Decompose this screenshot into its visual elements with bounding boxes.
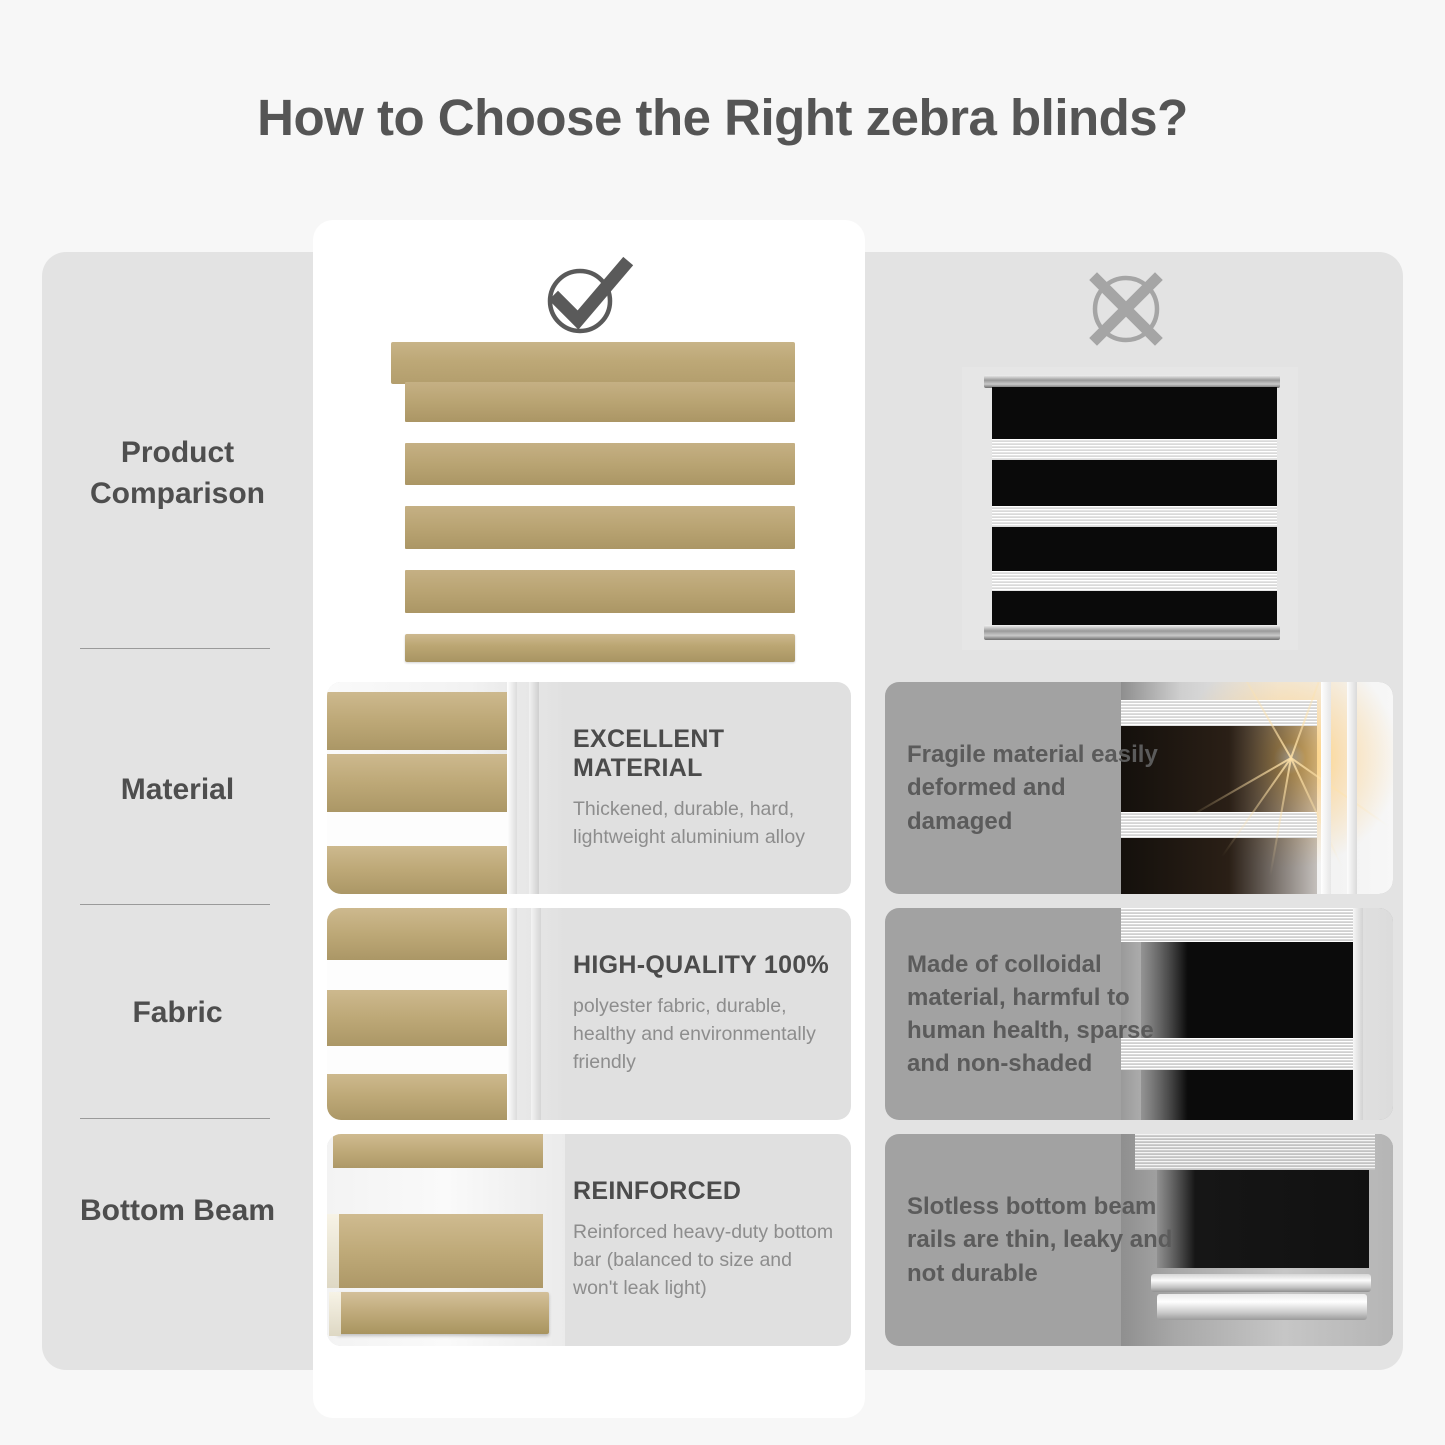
bad-card-fabric-heading: Made of colloidal material, harmful to h…	[907, 948, 1177, 1080]
blind-band	[405, 443, 795, 485]
bad-card-material: Fragile material easily deformed and dam…	[885, 682, 1393, 894]
blind-bottom-rail	[984, 625, 1280, 640]
page-title: How to Choose the Right zebra blinds?	[0, 88, 1445, 147]
row-label-fabric: Fabric	[42, 992, 313, 1033]
blind-valance	[391, 342, 795, 384]
good-card-fabric-heading: HIGH-QUALITY 100%	[573, 951, 837, 980]
hero-image-beige-blind	[383, 342, 795, 668]
blind-bottom-bar	[405, 634, 795, 662]
good-card-material-photo	[327, 682, 565, 894]
row-label-material: Material	[42, 769, 313, 810]
good-card-bottom-beam-heading: REINFORCED	[573, 1177, 837, 1206]
hero-image-black-blind	[962, 367, 1298, 650]
bad-card-fabric: Made of colloidal material, harmful to h…	[885, 908, 1393, 1120]
good-card-fabric: HIGH-QUALITY 100% polyester fabric, dura…	[327, 908, 851, 1120]
good-card-material-body: Thickened, durable, hard, lightweight al…	[573, 796, 837, 851]
blind-band	[405, 570, 795, 613]
blind-band	[405, 506, 795, 549]
label-column: Product Comparison Material Fabric Botto…	[42, 252, 313, 1370]
good-card-material-heading: EXCELLENT MATERIAL	[573, 725, 837, 783]
good-card-material: EXCELLENT MATERIAL Thickened, durable, h…	[327, 682, 851, 894]
row-divider	[80, 904, 270, 905]
blind-band	[405, 382, 795, 422]
good-card-bottom-beam-photo	[327, 1134, 565, 1346]
row-divider	[80, 1118, 270, 1119]
bad-card-material-heading: Fragile material easily deformed and dam…	[907, 738, 1177, 837]
bad-card-bottom-beam-heading: Slotless bottom beam rails are thin, lea…	[907, 1190, 1177, 1289]
row-divider	[80, 648, 270, 649]
good-card-fabric-photo	[327, 908, 565, 1120]
bad-card-bottom-beam: Slotless bottom beam rails are thin, lea…	[885, 1134, 1393, 1346]
check-circle-icon	[538, 252, 634, 338]
row-label-product-comparison: Product Comparison	[42, 432, 313, 515]
row-label-bottom-beam: Bottom Beam	[42, 1190, 313, 1231]
good-card-bottom-beam-body: Reinforced heavy-duty bottom bar (balanc…	[573, 1219, 837, 1302]
good-card-fabric-body: polyester fabric, durable, healthy and e…	[573, 993, 837, 1076]
good-card-bottom-beam: REINFORCED Reinforced heavy-duty bottom …	[327, 1134, 851, 1346]
cross-circle-icon	[1085, 268, 1167, 350]
